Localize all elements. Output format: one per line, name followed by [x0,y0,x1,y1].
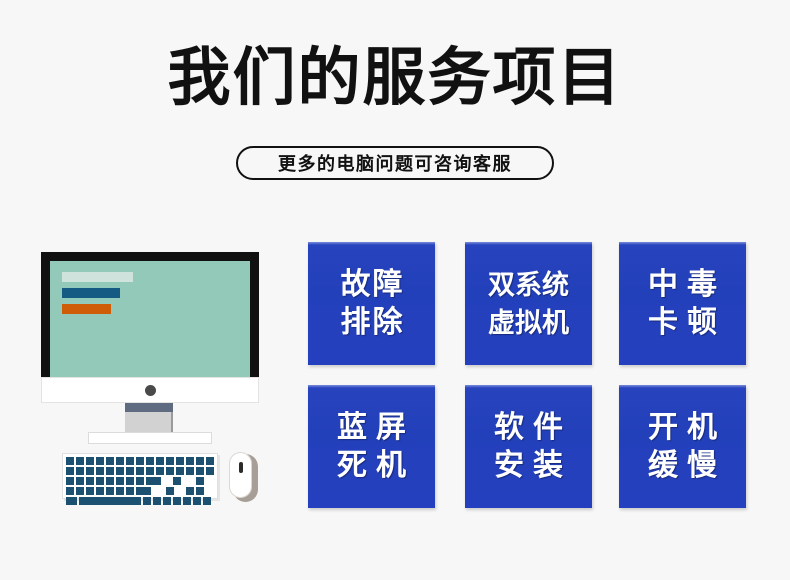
tile-line-1: 中毒 [639,266,726,304]
keyboard-row [66,497,214,505]
screen-bar-orange [62,304,111,314]
tile-slow-boot[interactable]: 开机 缓慢 [619,385,746,508]
monitor-stand-base [88,432,212,444]
screen-bar-light [62,272,133,282]
keyboard-row [66,467,214,475]
keyboard-illustration [62,453,218,499]
subtitle-text: 更多的电脑问题可咨询客服 [278,150,512,176]
mouse-illustration [227,452,259,502]
tile-line-2: 卡顿 [639,304,726,342]
mouse-body [229,452,252,498]
screen-bar-blue [62,288,120,298]
monitor-screen [50,261,250,377]
tile-bluescreen-crash[interactable]: 蓝屏 死机 [308,385,435,508]
tile-line-2: 虚拟机 [488,304,569,342]
tile-line-2: 排除 [339,304,405,342]
desktop-computer-illustration [35,248,285,516]
service-items-banner: 我们的服务项目 更多的电脑问题可咨询客服 [0,0,790,580]
monitor-stand-top [125,403,173,412]
monitor-stand-neck [125,412,173,432]
tile-line-1: 开机 [639,409,726,447]
tile-dual-system-vm[interactable]: 双系统 虚拟机 [465,242,592,365]
tile-software-install[interactable]: 软件 安装 [465,385,592,508]
mouse-scroll-wheel-icon [239,462,243,473]
tile-line-2: 死机 [328,447,415,485]
monitor-logo-dot-icon [145,385,156,396]
keyboard-row [66,457,214,465]
tile-line-1: 软件 [485,409,572,447]
tile-fault-troubleshooting[interactable]: 故障 排除 [308,242,435,365]
tile-line-2: 缓慢 [639,447,726,485]
monitor-chin [41,377,259,403]
service-tiles-grid: 故障 排除 双系统 虚拟机 中毒 卡顿 蓝屏 死机 软件 安装 开机 缓慢 [308,242,748,512]
tile-virus-lag[interactable]: 中毒 卡顿 [619,242,746,365]
tile-line-2: 安装 [485,447,572,485]
keyboard-row [66,487,214,495]
keyboard-row [66,477,214,485]
monitor-bezel [41,252,259,377]
tile-line-1: 双系统 [488,266,569,304]
tile-line-1: 蓝屏 [328,409,415,447]
subtitle-pill: 更多的电脑问题可咨询客服 [236,146,554,180]
page-title: 我们的服务项目 [0,42,790,114]
tile-line-1: 故障 [339,266,405,304]
